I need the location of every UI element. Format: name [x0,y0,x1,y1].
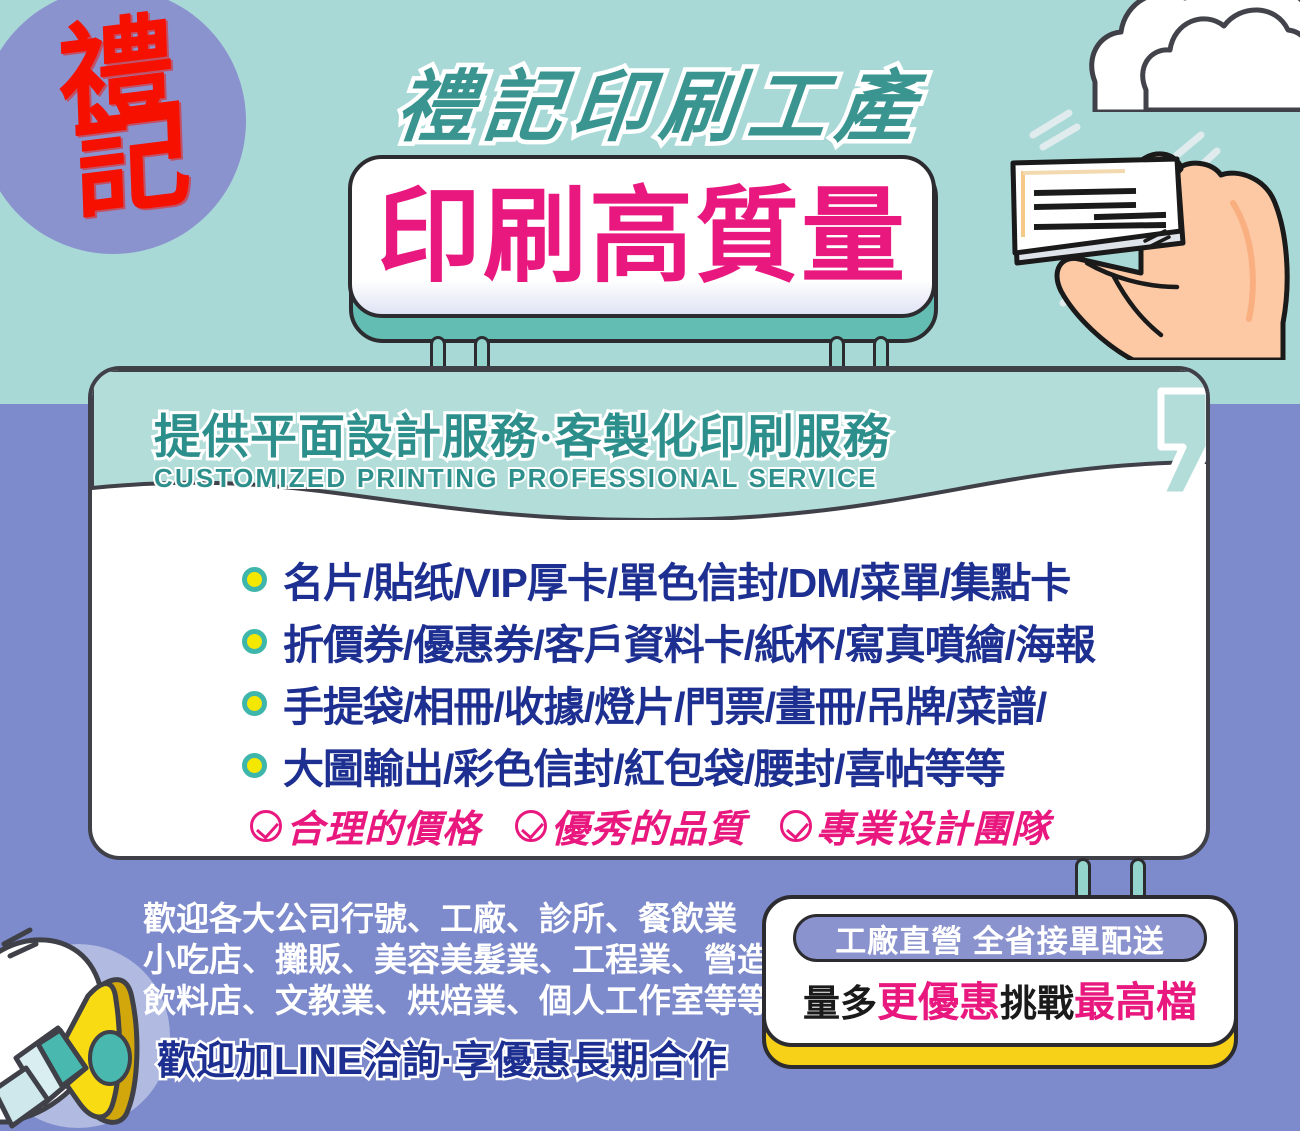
promo-slogan-part3: 挑戰 [1000,973,1074,1027]
feature-badge: 合理的價格 [250,798,481,853]
logo-char-2: 記 [72,110,182,215]
audience-line: 歡迎各大公司行號、工廠、診所、餐飲業 [143,898,803,939]
feature-label: 專業设計團隊 [816,798,1050,853]
promo-slogan-part1: 量多 [803,973,877,1027]
title-plaque: 印刷高質量 [348,155,936,318]
bullet-dot-icon [242,629,267,654]
page-title: 印刷高質量 [377,185,907,289]
promo-slogan: 量多 更優惠 挑戰 最高檔 [803,968,1197,1028]
feature-badges: 合理的價格 優秀的品質 專業设計團隊 [250,798,1050,853]
list-item: 手提袋/相冊/收據/燈片/門票/畫冊/吊牌/菜譜/ [242,672,1095,734]
audience-text-block: 歡迎各大公司行號、工廠、診所、餐飲業 小吃店、攤販、美容美髮業、工程業、營造業 … [143,898,803,1086]
check-circle-icon [780,810,812,842]
feature-label: 合理的價格 [286,798,481,853]
hand-holding-card-icon [965,95,1295,360]
service-label: 折價券/優惠券/客戶資料卡/紙杯/寫真噴繪/海報 [283,611,1095,671]
brand-header: 禮記印刷工產 [366,46,956,156]
service-label: 大圖輸出/彩色信封/紅包袋/腰封/喜帖等等 [283,735,1005,795]
card-subtitle-en: CUSTOMIZED PRINTING PROFESSIONAL SERVICE [154,463,878,494]
check-circle-icon [515,810,547,842]
service-label: 名片/貼纸/VIP厚卡/單色信封/DM/菜單/集點卡 [283,549,1070,609]
list-item: 大圖輸出/彩色信封/紅包袋/腰封/喜帖等等 [242,734,1095,796]
line-cta-text: 歡迎加LINE洽詢·享優惠長期合作 [157,1030,803,1086]
feature-label: 優秀的品質 [551,798,746,853]
brand-title: 禮記印刷工產 [391,45,931,157]
check-circle-icon [250,810,282,842]
promo-box: 工廠直營 全省接單配送 量多 更優惠 挑戰 最高檔 [762,895,1238,1047]
poster-canvas: 禮 記 [0,0,1300,1131]
services-card: 提供平面設計服務·客製化印刷服務 CUSTOMIZED PRINTING PRO… [88,366,1210,860]
logo-characters: 禮 記 [43,24,182,219]
quotation-mark-icon [1155,385,1210,505]
feature-badge: 優秀的品質 [515,798,746,853]
services-list: 名片/貼纸/VIP厚卡/單色信封/DM/菜單/集點卡 折價券/優惠券/客戶資料卡… [242,548,1095,796]
promo-pill: 工廠直營 全省接單配送 [793,914,1207,962]
audience-line: 小吃店、攤販、美容美髮業、工程業、營造業 [143,939,803,980]
promo-pill-label: 工廠直營 全省接單配送 [835,916,1165,961]
promo-slogan-part2: 更優惠 [877,968,1000,1028]
feature-badge: 專業设計團隊 [780,798,1050,853]
service-label: 手提袋/相冊/收據/燈片/門票/畫冊/吊牌/菜譜/ [283,673,1046,733]
audience-line: 飲料店、文教業、烘焙業、個人工作室等等 [143,980,803,1021]
card-subtitle-cn: 提供平面設計服務·客製化印刷服務 [154,398,891,467]
list-item: 名片/貼纸/VIP厚卡/單色信封/DM/菜單/集點卡 [242,548,1095,610]
list-item: 折價券/優惠券/客戶資料卡/紙杯/寫真噴繪/海報 [242,610,1095,672]
bullet-dot-icon [242,753,267,778]
promo-slogan-part4: 最高檔 [1074,968,1197,1028]
bullet-dot-icon [242,691,267,716]
bullet-dot-icon [242,567,267,592]
